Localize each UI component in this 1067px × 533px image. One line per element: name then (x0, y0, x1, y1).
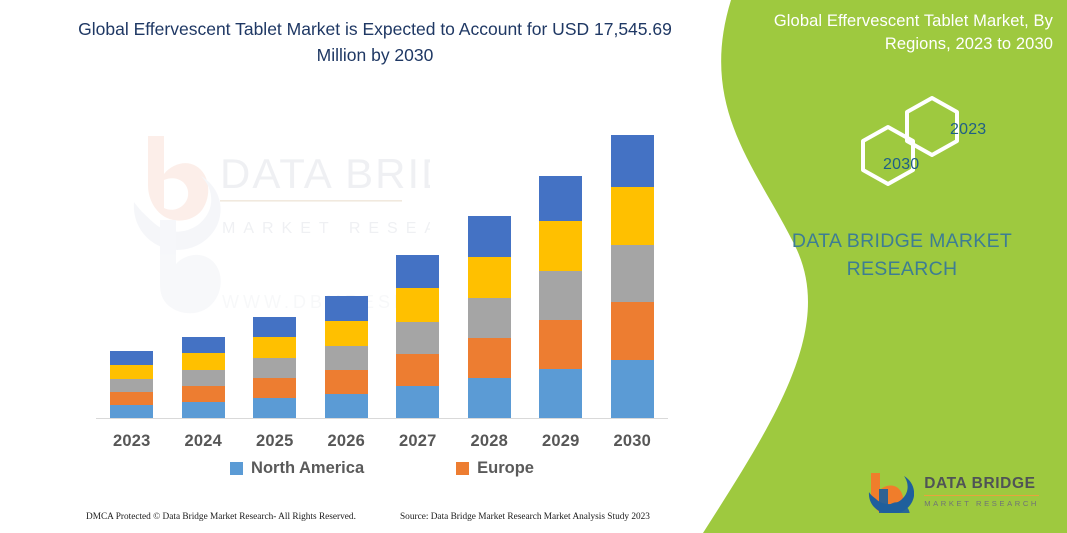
bar-segment (468, 298, 511, 338)
bar-segment (110, 351, 153, 365)
bar-segment (468, 216, 511, 257)
bar-2023 (110, 351, 153, 418)
chart-x-axis-line (96, 418, 668, 419)
bar-segment (182, 337, 225, 353)
bar-segment (182, 402, 225, 418)
bar-segment (611, 245, 654, 302)
legend-item-north-america[interactable]: North America (230, 459, 364, 478)
data-bridge-logo-text: DATA BRIDGE MARKET RESEARCH (924, 476, 1039, 507)
bar-2024 (182, 337, 225, 418)
x-tick-2027: 2027 (382, 432, 454, 451)
data-bridge-logo: DATA BRIDGE MARKET RESEARCH (868, 471, 1039, 513)
x-tick-2023: 2023 (96, 432, 168, 451)
bar-segment (325, 296, 368, 321)
bar-segment (611, 187, 654, 245)
bar-segment (396, 322, 439, 354)
panel-title: Global Effervescent Tablet Market, By Re… (753, 10, 1053, 57)
data-bridge-logo-mark (868, 471, 914, 513)
bar-segment (253, 398, 296, 418)
bar-segment (539, 369, 582, 418)
bar-segment (325, 346, 368, 370)
logo-line-1: DATA BRIDGE (924, 476, 1039, 496)
bar-2027 (396, 255, 439, 418)
bar-segment (253, 378, 296, 398)
bar-segment (253, 358, 296, 378)
bar-2029 (539, 176, 582, 418)
bar-segment (539, 221, 582, 271)
footer-copyright: DMCA Protected © Data Bridge Market Rese… (86, 512, 356, 522)
bar-segment (325, 321, 368, 346)
bar-segment (396, 255, 439, 288)
chart-legend: North AmericaEurope (96, 455, 668, 481)
bar-segment (396, 288, 439, 322)
bar-segment (468, 257, 511, 298)
x-tick-2025: 2025 (239, 432, 311, 451)
bar-segment (539, 320, 582, 369)
corner-accent (1045, 499, 1067, 533)
bar-segment (611, 302, 654, 360)
bar-segment (539, 176, 582, 221)
x-tick-2030: 2030 (597, 432, 669, 451)
panel-brand-text: DATA BRIDGE MARKET RESEARCH (757, 228, 1047, 283)
bar-segment (468, 378, 511, 418)
legend-swatch-icon (230, 462, 243, 475)
footer-source: Source: Data Bridge Market Research Mark… (400, 512, 650, 522)
bar-segment (182, 353, 225, 370)
bar-segment (182, 370, 225, 386)
bar-2030 (611, 135, 654, 418)
logo-line-2: MARKET RESEARCH (924, 496, 1039, 508)
bar-segment (253, 337, 296, 358)
bar-segment (110, 379, 153, 392)
legend-item-europe[interactable]: Europe (456, 459, 534, 478)
legend-label: North America (251, 459, 364, 478)
page-title: Global Effervescent Tablet Market is Exp… (60, 16, 690, 69)
hexagon-group: 2023 2030 (835, 96, 1025, 201)
chart-x-axis-labels: 20232024202520262027202820292030 (96, 428, 668, 454)
bar-2026 (325, 296, 368, 418)
bar-segment (468, 338, 511, 378)
legend-swatch-icon (456, 462, 469, 475)
bar-segment (611, 135, 654, 187)
legend-label: Europe (477, 459, 534, 478)
x-tick-2028: 2028 (454, 432, 526, 451)
bar-segment (611, 360, 654, 418)
x-tick-2026: 2026 (311, 432, 383, 451)
bar-2028 (468, 216, 511, 418)
bar-segment (539, 271, 582, 320)
bar-segment (253, 317, 296, 337)
bar-chart-plot-area (96, 125, 668, 418)
hexagon-2023-label: 2023 (950, 121, 986, 139)
bar-segment (110, 392, 153, 405)
bar-2025 (253, 317, 296, 418)
bar-segment (110, 405, 153, 418)
bar-segment (325, 370, 368, 394)
bar-segment (110, 365, 153, 379)
green-panel-content: Global Effervescent Tablet Market, By Re… (737, 0, 1067, 533)
infographic-root: Global Effervescent Tablet Market is Exp… (0, 0, 1067, 533)
bar-segment (396, 386, 439, 418)
bar-segment (396, 354, 439, 386)
x-tick-2029: 2029 (525, 432, 597, 451)
bar-segment (182, 386, 225, 402)
hexagon-2030-label: 2030 (883, 156, 919, 174)
x-tick-2024: 2024 (168, 432, 240, 451)
bar-segment (325, 394, 368, 418)
footer: DMCA Protected © Data Bridge Market Rese… (0, 505, 700, 529)
